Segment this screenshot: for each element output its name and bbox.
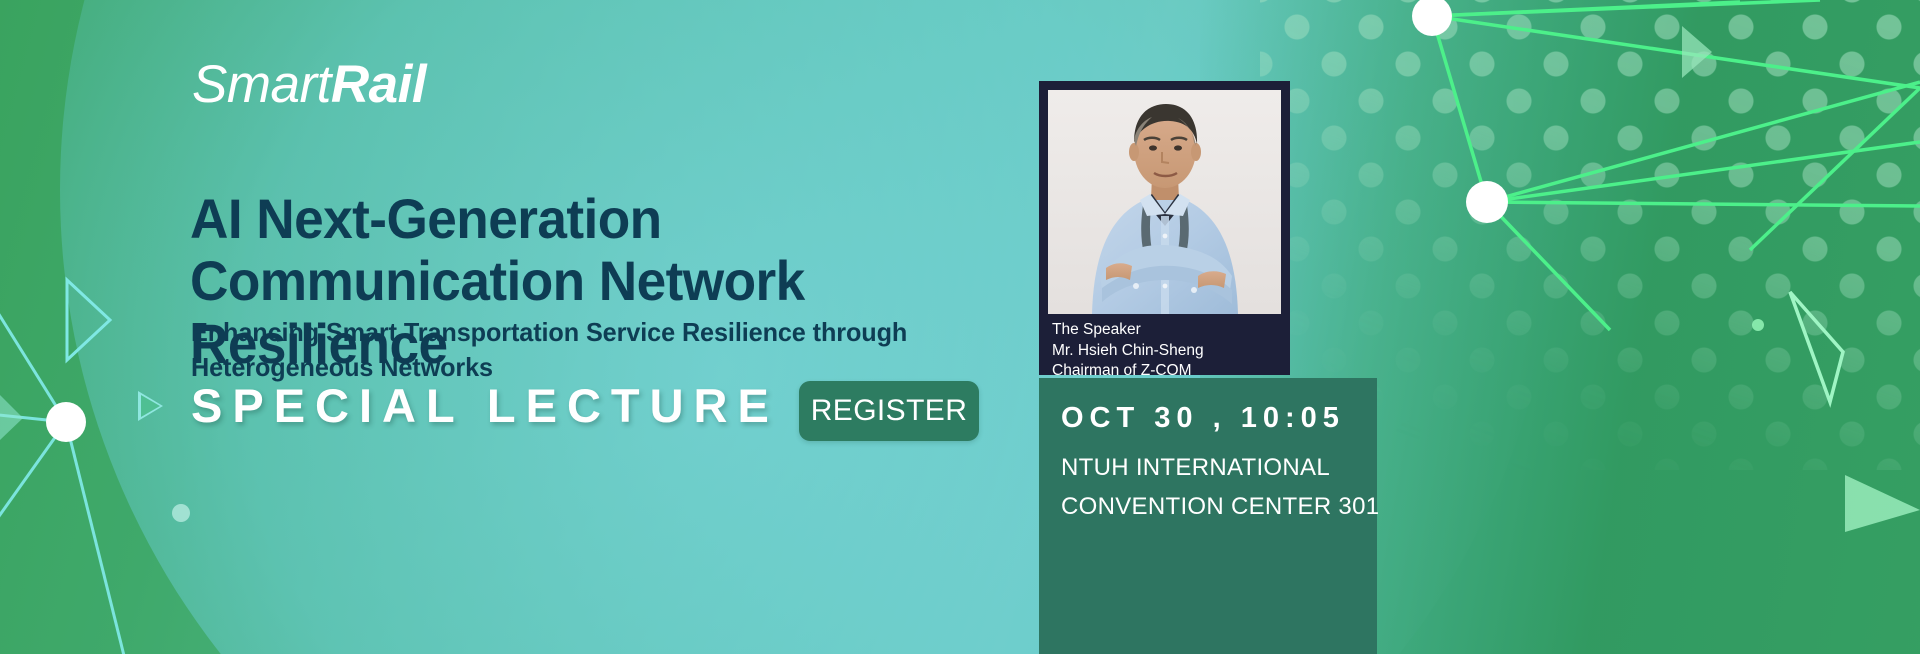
page-subtitle: Enhancing Smart Transportation Service R… (191, 315, 967, 385)
event-datetime: OCT 30 , 10:05 (1061, 402, 1355, 435)
event-venue-line-1: NTUH INTERNATIONAL (1061, 449, 1355, 488)
logo-text-smart: Smart (192, 55, 331, 114)
play-triangle-icon (138, 391, 163, 421)
speaker-portrait-illustration (1048, 90, 1281, 314)
event-venue-line-2: CONVENTION CENTER 301 (1061, 488, 1355, 527)
speaker-photo (1048, 90, 1281, 314)
speaker-card: The Speaker Mr. Hsieh Chin-Sheng Chairma… (1039, 81, 1290, 375)
banner-content: SmartRail AI Next-Generation Communicati… (0, 0, 1920, 654)
special-lecture-label: SPECIAL LECTURE (191, 378, 779, 433)
speaker-caption: The Speaker Mr. Hsieh Chin-Sheng Chairma… (1048, 314, 1281, 382)
smartrail-logo: SmartRail (192, 58, 426, 111)
special-lecture-callout: SPECIAL LECTURE (138, 378, 779, 433)
register-button[interactable]: REGISTER (799, 381, 979, 441)
event-info-panel: OCT 30 , 10:05 NTUH INTERNATIONAL CONVEN… (1039, 378, 1377, 654)
logo-text-rail: Rail (331, 55, 426, 114)
special-lecture-banner: SmartRail AI Next-Generation Communicati… (0, 0, 1920, 654)
